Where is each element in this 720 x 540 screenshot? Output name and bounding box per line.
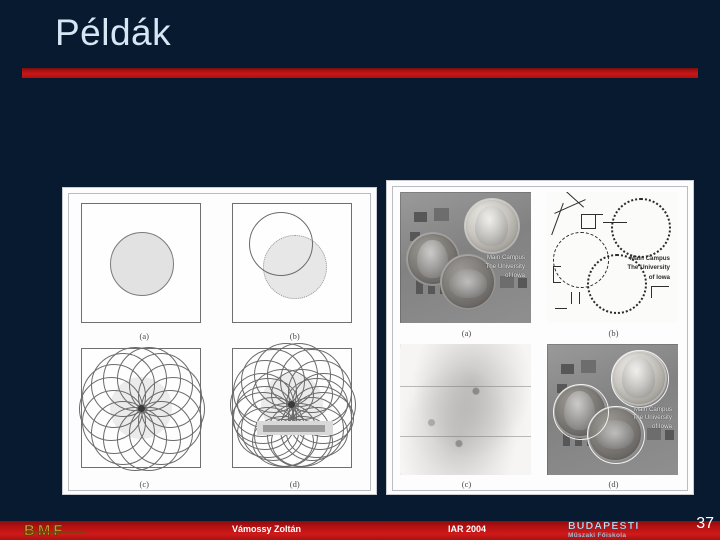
title-underline-rule (22, 68, 698, 78)
rosette-circle (138, 364, 202, 428)
filled-circle-shape (110, 232, 174, 296)
accumulator-heat-field (400, 344, 531, 475)
page-number: 37 (696, 516, 714, 532)
panel-b-frame (232, 203, 352, 323)
edge-segment (551, 203, 564, 235)
accumulator-scanline (400, 436, 531, 437)
panel-c-caption: (c) (69, 479, 220, 489)
figure-left-quadrants: (a) (b) (c) (69, 194, 370, 490)
edge-circle-top (611, 198, 671, 258)
figure-left-inner-border: (a) (b) (c) (68, 193, 371, 491)
footer-conference: IAR 2004 (448, 524, 486, 534)
map-overlay-text: Main Campus The University of Iowa (632, 406, 672, 433)
map-block (561, 364, 574, 374)
university-logo-sub: Műszaki Főiskola (568, 533, 664, 540)
panel-synthetic-c: (c) (69, 342, 220, 490)
edge-segment (651, 286, 669, 287)
coin-photo-original: Main Campus The University of Iowa (400, 192, 531, 323)
edge-segment (579, 292, 580, 304)
outline-circle-shape (249, 212, 313, 276)
figure-right-inner-border: Main Campus The University of Iowa (a) (392, 186, 688, 491)
coin-portrait (475, 206, 507, 246)
map-block (581, 360, 596, 373)
coin-reverse-eagle (449, 269, 487, 298)
hough-accumulator-image (400, 344, 531, 475)
figure-right-quadrants: Main Campus The University of Iowa (a) (393, 187, 687, 490)
coin-edge-map: Main Campus The University of Iowa (547, 192, 678, 323)
panel-synthetic-a: (a) (69, 194, 220, 342)
edge-segment (553, 282, 561, 283)
edge-segment (555, 308, 567, 309)
university-logo: BUDAPESTI Műszaki Főiskola (568, 521, 664, 539)
panel-a-caption: (a) (69, 331, 220, 341)
map-block (434, 208, 449, 221)
map-text-line-3: of Iowa (485, 272, 525, 281)
edge-text-line-1: Main Campus (627, 254, 670, 263)
panel-c-frame (81, 348, 201, 468)
accumulator-scanline (400, 386, 531, 387)
bmf-logo-rule (24, 531, 86, 533)
university-logo-main: BUDAPESTI (568, 521, 664, 532)
panel-d-caption: (d) (540, 479, 687, 489)
edge-text-line-2: The University (627, 263, 670, 272)
coin-quarter-top (464, 198, 520, 254)
rosette-center-peak (138, 405, 145, 412)
detected-circle-top (611, 350, 669, 408)
panel-a-frame (81, 203, 201, 323)
panel-synthetic-d: (d) (220, 342, 371, 490)
panel-d-caption: (d) (220, 479, 371, 489)
edge-segment (581, 214, 582, 228)
map-overlay-text: Main Campus The University of Iowa (485, 254, 525, 281)
panel-coins-a: Main Campus The University of Iowa (a) (393, 187, 540, 339)
panel-d-frame (232, 348, 352, 468)
panel-coins-c: (c) (393, 339, 540, 491)
coin-detection-result: Main Campus The University of Iowa (547, 344, 678, 475)
panel-a-caption: (a) (393, 328, 540, 338)
panel-c-caption: (c) (393, 479, 540, 489)
edge-segment (595, 214, 596, 228)
panel-coins-d: Main Campus The University of Iowa (d) (540, 339, 687, 491)
panel-coins-b: Main Campus The University of Iowa (b) (540, 187, 687, 339)
edge-segment (581, 214, 603, 215)
edge-segment (581, 228, 596, 229)
panel-synthetic-b: (b) (220, 194, 371, 342)
rosette-center-peak (288, 401, 295, 408)
map-text-line-2: The University (485, 263, 525, 272)
panel-b-caption: (b) (540, 328, 687, 338)
map-text-line-3: of Iowa (632, 423, 672, 432)
footer-author: Vámossy Zoltán (232, 524, 301, 534)
figure-hough-circle-synthetic: (a) (b) (c) (63, 188, 376, 494)
page-title: Példák (55, 14, 171, 53)
edge-segment (571, 292, 572, 304)
map-block (414, 212, 427, 222)
figure-hough-circle-coins: Main Campus The University of Iowa (a) (387, 181, 693, 494)
edge-segment (651, 286, 652, 298)
panel-b-caption: (b) (220, 331, 371, 341)
edge-overlay-text: Main Campus The University of Iowa (627, 254, 670, 282)
slide-canvas: Példák (a) (b) (0, 0, 720, 540)
edge-text-line-3: of Iowa (627, 273, 670, 282)
map-text-line-1: Main Campus (485, 254, 525, 263)
accumulator-smear-dark (263, 425, 325, 432)
